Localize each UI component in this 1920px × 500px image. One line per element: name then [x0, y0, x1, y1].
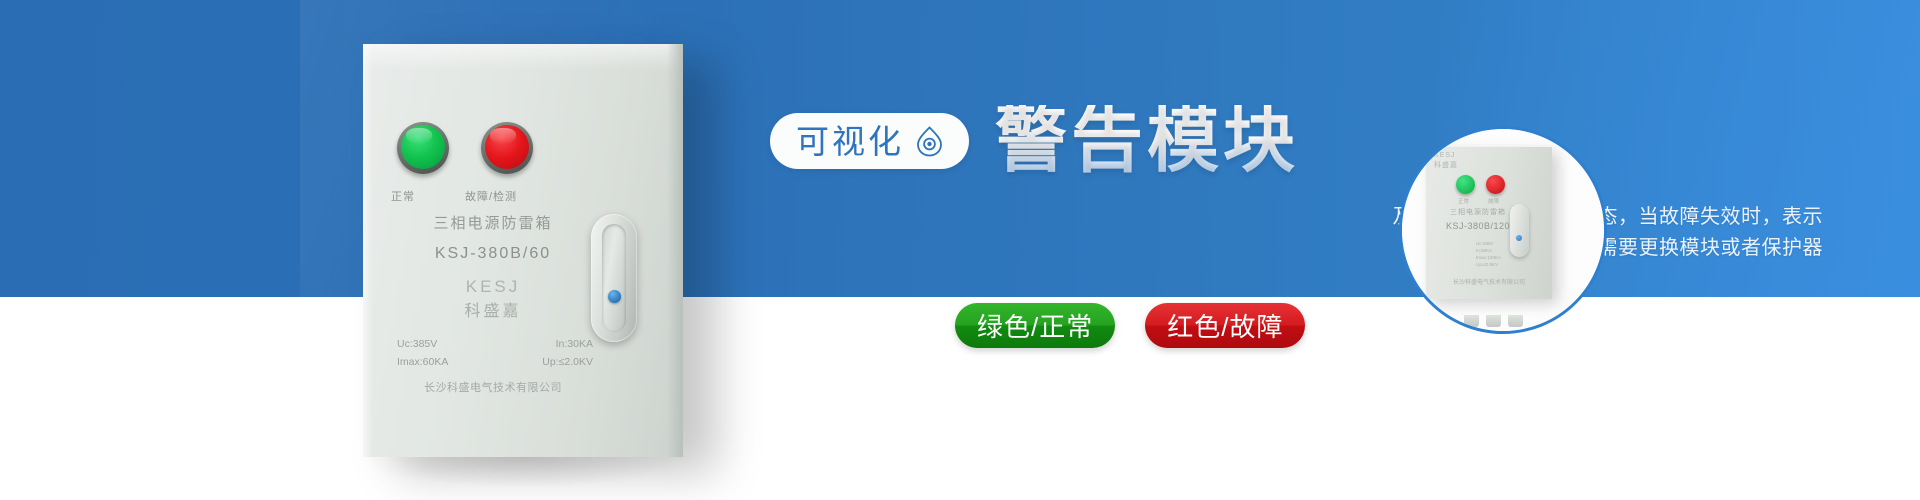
- badge-red-fault: 红色/故障: [1145, 303, 1305, 348]
- lamp-gloss: [490, 128, 516, 144]
- brand-latin: KESJ: [363, 273, 623, 301]
- promo-banner: 正常 故障/检测 三相电源防雷箱 KSJ-380B/60 KESJ 科盛嘉 Uc…: [0, 0, 1920, 500]
- enclosure-top-gloss: [363, 44, 683, 70]
- green-indicator-lamp: [397, 122, 449, 174]
- inset-lamp-label-fault: 故障: [1488, 197, 1499, 205]
- product-inset-circle: KESJ 科盛嘉 正常 故障 三相电源防雷箱 KSJ-380B/120 Uc:3…: [1399, 126, 1607, 334]
- badge-green-normal: 绿色/正常: [955, 303, 1115, 348]
- inset-door-handle: [1510, 204, 1529, 257]
- inset-spec-up: Up:≤2.5KV: [1476, 261, 1501, 268]
- lamp-label-normal: 正常: [391, 188, 415, 204]
- inset-cable-gland: [1508, 315, 1523, 327]
- product-floor-shadow: [363, 457, 683, 487]
- headline-row: 可视化 警告模块: [770, 100, 1299, 182]
- subtitle-line-1: 及时有效的反应工作状态，当故障失效时，表示: [823, 202, 1823, 233]
- visualization-pill: 可视化: [770, 113, 969, 169]
- product-enclosure-image: 正常 故障/检测 三相电源防雷箱 KSJ-380B/60 KESJ 科盛嘉 Uc…: [363, 44, 683, 457]
- inset-lamp-label-normal: 正常: [1458, 197, 1469, 205]
- subtitle-block: 及时有效的反应工作状态，当故障失效时，表示 需要更换模块或者保护器: [823, 202, 1823, 264]
- inset-spec-imax: Imax:120KA: [1476, 254, 1501, 261]
- inset-brand-chinese: 科盛嘉: [1434, 160, 1458, 170]
- inset-company-name: 长沙科盛电气技术有限公司: [1426, 277, 1552, 286]
- inset-spec-uc: Uc:385V: [1476, 240, 1501, 247]
- banner-content: 可视化 警告模块 及时有效的反应工作状态，当故障失效时，表示 需要更换模块或者保…: [770, 0, 1830, 360]
- status-badge-group: 绿色/正常 红色/故障: [955, 303, 1305, 348]
- inset-handle-lock-dot: [1516, 235, 1522, 241]
- spec-up: Up:≤2.0KV: [542, 354, 593, 372]
- handle-slot: [602, 224, 626, 332]
- product-company-name: 长沙科盛电气技术有限公司: [363, 379, 623, 395]
- inset-cable-glands: [1460, 315, 1552, 327]
- enclosure-faceplate-text: 三相电源防雷箱 KSJ-380B/60 KESJ 科盛嘉: [363, 212, 623, 326]
- inset-brand-latin: KESJ: [1434, 152, 1456, 159]
- inset-green-lamp: [1456, 175, 1475, 194]
- spec-imax: Imax:60KA: [397, 354, 448, 372]
- inset-spec-block: Uc:385V In:60KA Imax:120KA Up:≤2.5KV: [1476, 240, 1501, 268]
- brand-chinese: 科盛嘉: [363, 299, 623, 325]
- product-title: 三相电源防雷箱: [363, 212, 623, 237]
- inset-red-lamp: [1486, 175, 1505, 194]
- pill-label: 可视化: [796, 125, 904, 158]
- inset-enclosure-image: KESJ 科盛嘉 正常 故障 三相电源防雷箱 KSJ-380B/120 Uc:3…: [1426, 147, 1552, 299]
- lamp-label-fault: 故障/检测: [465, 188, 517, 204]
- indicator-lamp-row: [397, 122, 547, 178]
- inset-cable-gland: [1486, 315, 1501, 327]
- subtitle-line-2: 需要更换模块或者保护器: [823, 233, 1823, 264]
- inset-cable-gland: [1464, 315, 1479, 327]
- handle-lock-dot: [608, 290, 621, 303]
- spec-uc: Uc:385V: [397, 336, 437, 354]
- red-indicator-lamp: [481, 122, 533, 174]
- page-title: 警告模块: [995, 105, 1299, 177]
- visibility-location-icon: [916, 126, 943, 157]
- enclosure-door-handle: [591, 214, 637, 342]
- lamp-gloss: [406, 128, 432, 144]
- product-spec-block: Uc:385V In:30KA Imax:60KA Up:≤2.0KV: [397, 336, 593, 372]
- product-model: KSJ-380B/60: [363, 241, 623, 267]
- spec-in: In:30KA: [556, 336, 593, 354]
- inset-spec-in: In:60KA: [1476, 247, 1501, 254]
